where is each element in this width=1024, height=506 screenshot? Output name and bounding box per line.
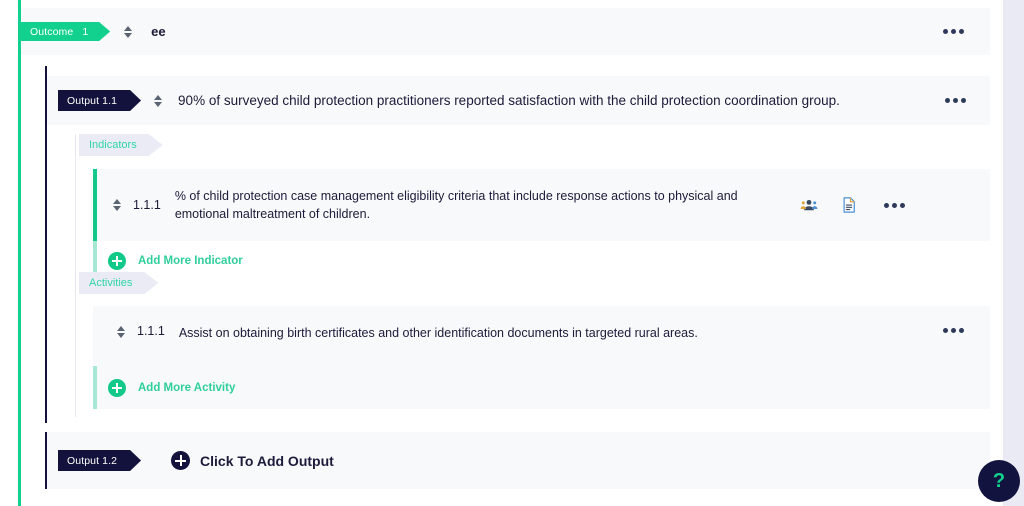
add-output-label[interactable]: Click To Add Output bbox=[200, 453, 334, 469]
add-activity-plus-icon[interactable] bbox=[108, 379, 126, 397]
add-output-row[interactable]: Output 1.2 Click To Add Output bbox=[47, 432, 990, 489]
outcome-tag[interactable]: Outcome 1 bbox=[21, 22, 110, 41]
activity-sort-handle[interactable] bbox=[115, 324, 127, 340]
indicator-actions bbox=[800, 196, 909, 214]
outcome-header-row: Outcome 1 ee bbox=[21, 8, 990, 55]
document-icon[interactable] bbox=[840, 196, 858, 214]
logframe-canvas: Outcome 1 ee Output 1.1 90% of surveyed … bbox=[0, 0, 1003, 506]
indicator-text[interactable]: % of child protection case management el… bbox=[175, 187, 800, 223]
outcome-more-options-icon[interactable] bbox=[939, 23, 968, 40]
activities-rail bbox=[75, 272, 76, 417]
help-icon: ? bbox=[993, 470, 1005, 493]
add-indicator-plus-icon[interactable] bbox=[108, 252, 126, 270]
add-output-tag[interactable]: Output 1.2 bbox=[58, 450, 141, 471]
outcome-title[interactable]: ee bbox=[151, 24, 165, 39]
output-tag-label: Output 1.1 bbox=[67, 95, 117, 107]
activity-actions bbox=[939, 322, 968, 339]
add-more-indicator-label[interactable]: Add More Indicator bbox=[138, 255, 243, 267]
activity-more-options-icon[interactable] bbox=[939, 322, 968, 339]
activity-number: 1.1.1 bbox=[137, 324, 165, 338]
indicator-sort-handle[interactable] bbox=[111, 197, 123, 213]
output-text[interactable]: 90% of surveyed child protection practit… bbox=[178, 93, 840, 108]
outcome-tag-label: Outcome bbox=[30, 26, 73, 38]
indicator-row-accent bbox=[93, 169, 97, 241]
outcome-rail bbox=[18, 0, 21, 506]
output-tag[interactable]: Output 1.1 bbox=[58, 90, 141, 111]
activities-tag-row: Activities bbox=[79, 272, 158, 294]
activities-section-tag[interactable]: Activities bbox=[79, 272, 158, 294]
indicators-section-tag[interactable]: Indicators bbox=[79, 134, 163, 156]
add-more-indicator-row[interactable]: Add More Indicator bbox=[93, 241, 990, 281]
add-output-tag-label: Output 1.2 bbox=[67, 455, 117, 467]
add-activity-accent bbox=[93, 366, 97, 409]
indicator-row: 1.1.1 % of child protection case managem… bbox=[93, 169, 990, 241]
indicators-section-label: Indicators bbox=[89, 139, 137, 151]
add-output-plus-icon[interactable] bbox=[171, 451, 190, 470]
help-button[interactable]: ? bbox=[978, 460, 1020, 502]
activity-text[interactable]: Assist on obtaining birth certificates a… bbox=[179, 324, 939, 342]
activities-section-label: Activities bbox=[89, 277, 132, 289]
output-sort-handle[interactable] bbox=[152, 93, 164, 109]
page-background-strip bbox=[1003, 0, 1024, 506]
group-icon[interactable] bbox=[800, 196, 818, 214]
outcome-sort-handle[interactable] bbox=[122, 24, 134, 40]
output-more-options-icon[interactable] bbox=[941, 92, 970, 109]
indicator-number: 1.1.1 bbox=[133, 198, 161, 212]
indicator-more-options-icon[interactable] bbox=[880, 197, 909, 214]
add-more-activity-row[interactable]: Add More Activity bbox=[93, 366, 990, 409]
indicators-tag-row: Indicators bbox=[79, 134, 163, 156]
add-more-activity-label[interactable]: Add More Activity bbox=[138, 382, 235, 394]
outcome-tag-number: 1 bbox=[82, 26, 88, 38]
output-header-row: Output 1.1 90% of surveyed child protect… bbox=[47, 76, 990, 125]
